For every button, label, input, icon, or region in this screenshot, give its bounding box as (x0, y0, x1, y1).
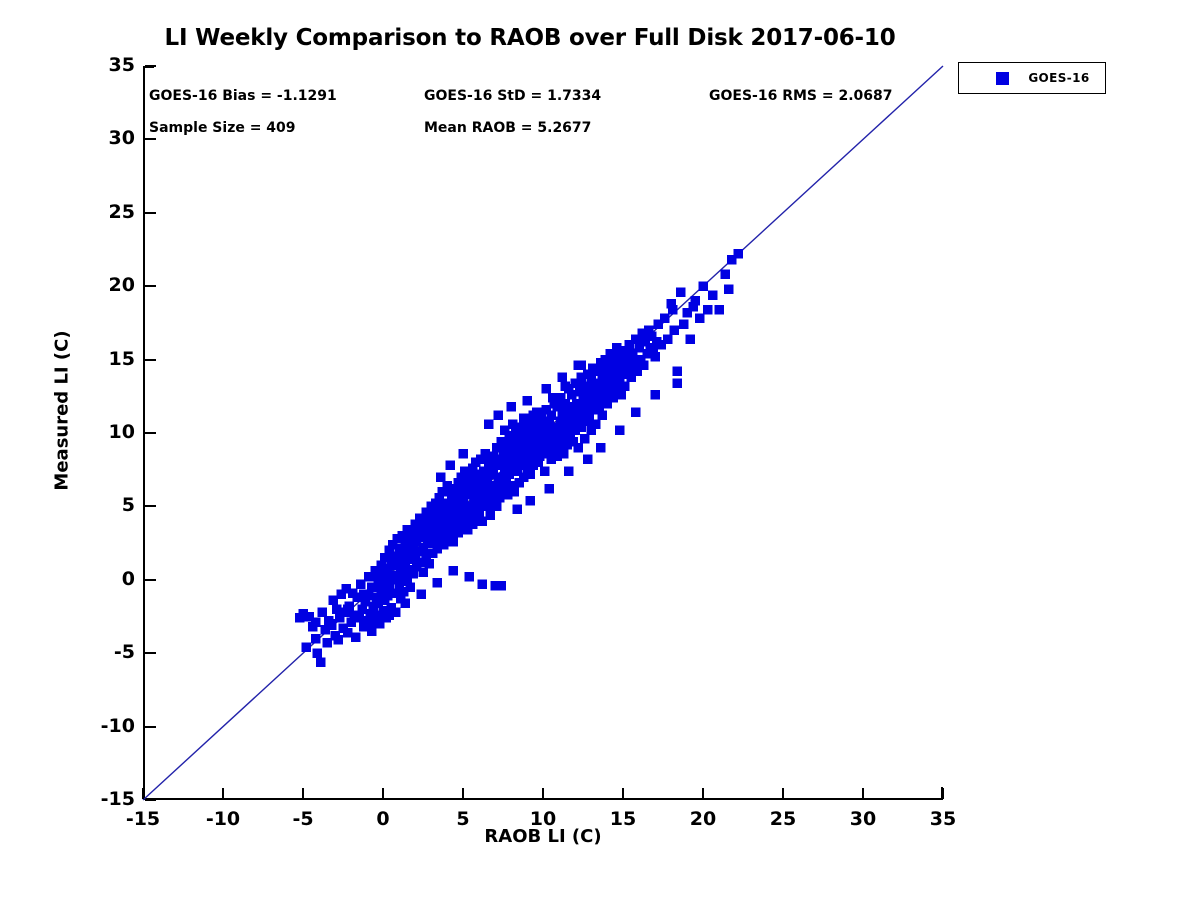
x-tick-mark (782, 788, 784, 799)
y-tick-mark (145, 138, 156, 140)
x-tick-mark (302, 788, 304, 799)
scatter-plot-canvas (143, 66, 943, 800)
data-point (333, 635, 343, 645)
legend-marker-swatch (996, 72, 1009, 85)
data-point (525, 469, 535, 479)
data-point (649, 346, 659, 356)
data-point (433, 578, 443, 588)
annotation-std: GOES-16 StD = 1.7334 (424, 88, 601, 104)
data-point (676, 287, 686, 297)
data-point (660, 314, 670, 324)
data-point (449, 566, 459, 576)
data-point (596, 443, 606, 453)
data-point (561, 381, 571, 391)
y-tick-mark (145, 505, 156, 507)
data-point (519, 428, 529, 438)
data-point (471, 469, 481, 479)
data-point (620, 381, 630, 391)
data-point (492, 502, 502, 512)
data-point (721, 270, 731, 280)
y-tick-mark (145, 432, 156, 434)
data-point (628, 361, 638, 371)
y-tick-mark (145, 285, 156, 287)
data-point (503, 440, 513, 450)
x-tick-mark (222, 788, 224, 799)
data-point (617, 390, 627, 400)
legend-entry-label: GOES-16 (1021, 63, 1097, 93)
y-tick-mark (145, 726, 156, 728)
chart-figure: LI Weekly Comparison to RAOB over Full D… (0, 0, 1200, 900)
data-point (540, 466, 550, 476)
data-point (525, 496, 535, 506)
data-point (436, 472, 446, 482)
x-tick-mark (702, 788, 704, 799)
data-point (695, 314, 705, 324)
data-point (301, 643, 311, 653)
data-point (631, 408, 641, 418)
x-tick-mark (542, 788, 544, 799)
data-point (311, 618, 321, 628)
data-point-group (295, 249, 743, 667)
x-tick-mark (622, 788, 624, 799)
data-point (485, 510, 495, 520)
data-point (425, 559, 435, 569)
data-point (506, 402, 516, 412)
y-tick-label: -15 (55, 788, 135, 812)
data-point (445, 461, 455, 471)
y-tick-mark (145, 579, 156, 581)
data-point (559, 449, 569, 459)
data-point (703, 305, 713, 315)
data-point (405, 582, 415, 592)
data-point (359, 590, 369, 600)
y-tick-mark (145, 212, 156, 214)
data-point (423, 522, 433, 532)
data-point (669, 325, 679, 335)
data-point (484, 419, 494, 429)
data-point (327, 619, 337, 629)
data-point (458, 449, 468, 459)
data-point (639, 361, 649, 371)
annotation-rms: GOES-16 RMS = 2.0687 (709, 88, 893, 104)
x-axis-label: RAOB LI (C) (143, 826, 943, 847)
data-point (724, 284, 734, 294)
data-point (564, 466, 574, 476)
data-point (493, 411, 503, 421)
data-point (401, 599, 411, 609)
y-tick-mark (145, 652, 156, 654)
data-point (685, 334, 695, 344)
data-point (351, 632, 361, 642)
data-point (417, 590, 427, 600)
data-point (311, 634, 321, 644)
data-point (477, 579, 487, 589)
data-point (597, 411, 607, 421)
legend-box[interactable]: GOES-16 (958, 62, 1106, 94)
data-point (317, 607, 327, 617)
data-point (593, 399, 603, 409)
chart-title: LI Weekly Comparison to RAOB over Full D… (0, 25, 1060, 51)
data-point (689, 302, 699, 312)
data-point (316, 657, 326, 667)
data-point (714, 305, 724, 315)
data-point (557, 372, 567, 382)
x-tick-mark (862, 788, 864, 799)
data-point (673, 378, 683, 388)
data-point (487, 458, 497, 468)
data-point (385, 610, 395, 620)
data-point (465, 572, 475, 582)
data-point (313, 648, 323, 658)
data-point (679, 320, 689, 330)
data-point (698, 281, 708, 291)
x-tick-mark (142, 788, 144, 799)
data-point (439, 540, 449, 550)
data-point (615, 425, 625, 435)
annotation-mean-raob: Mean RAOB = 5.2677 (424, 120, 591, 136)
data-point (650, 390, 660, 400)
data-point (541, 384, 551, 394)
x-tick-mark (462, 788, 464, 799)
data-point (605, 378, 615, 388)
data-point (733, 249, 743, 258)
annotation-sample-size: Sample Size = 409 (149, 120, 296, 136)
y-tick-mark (145, 65, 156, 67)
data-point (708, 290, 718, 300)
data-point (546, 411, 556, 421)
data-point (513, 505, 523, 515)
data-point (532, 417, 542, 427)
data-point (391, 554, 401, 564)
data-point (668, 305, 678, 315)
data-point (548, 393, 558, 403)
data-point (407, 537, 417, 547)
data-point (509, 487, 519, 497)
annotation-bias: GOES-16 Bias = -1.1291 (149, 88, 337, 104)
x-tick-mark (942, 788, 944, 799)
plot-area (143, 66, 943, 800)
data-point (497, 581, 507, 591)
data-point (583, 455, 593, 465)
data-point (369, 619, 379, 629)
data-point (573, 443, 583, 453)
data-point (439, 502, 449, 512)
data-point (375, 572, 385, 582)
data-point (545, 484, 555, 494)
data-point (591, 419, 601, 429)
x-tick-mark (382, 788, 384, 799)
data-point (455, 487, 465, 497)
y-tick-mark (145, 799, 156, 801)
data-point (418, 568, 428, 578)
data-point (673, 367, 683, 377)
y-tick-mark (145, 359, 156, 361)
data-point (522, 396, 532, 406)
data-point (343, 604, 353, 614)
data-point (663, 334, 673, 344)
data-point (652, 337, 662, 347)
data-point (577, 361, 587, 371)
data-point (580, 434, 590, 444)
y-axis-label: Measured LI (C) (52, 44, 73, 778)
data-point (449, 537, 459, 547)
